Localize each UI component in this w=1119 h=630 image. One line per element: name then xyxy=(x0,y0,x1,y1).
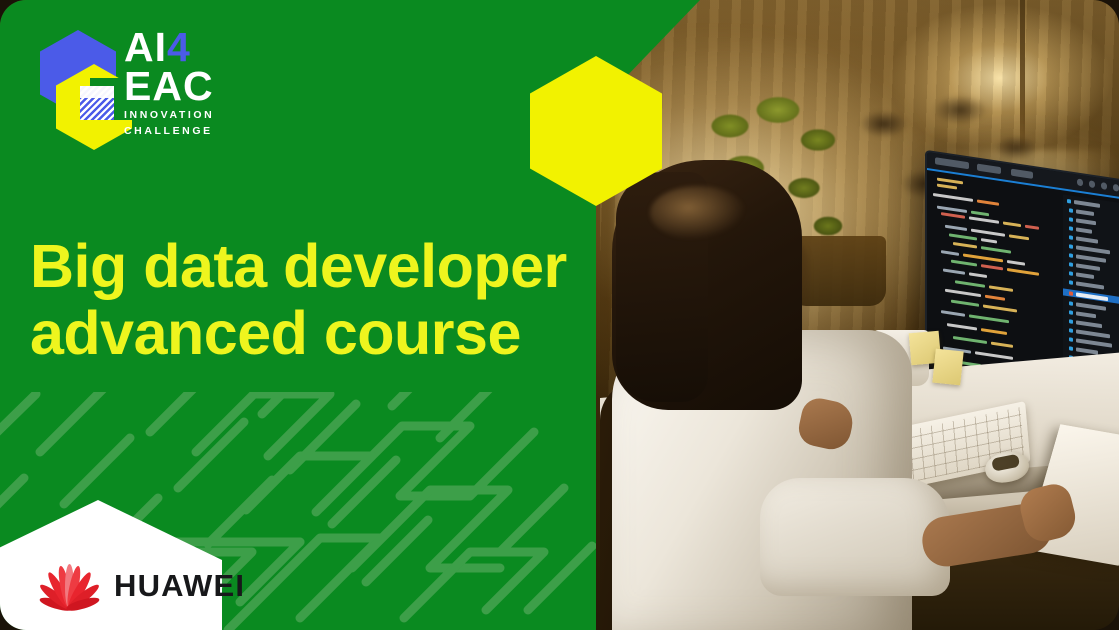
logo-line-eac: EAC xyxy=(124,66,214,106)
page-title-line-1: Big data developer xyxy=(30,233,575,300)
huawei-flower-icon xyxy=(34,562,100,610)
sticky-note xyxy=(932,349,963,386)
logo-text-block: AI4 EAC INNOVATION CHALLENGE xyxy=(124,28,214,138)
huawei-wordmark: HUAWEI xyxy=(114,568,245,604)
ai4eac-logo[interactable]: AI4 EAC INNOVATION CHALLENGE xyxy=(24,26,204,142)
course-banner: HUAWEI AI4 EAC INNOVATION CHALLENGE Big … xyxy=(0,0,1119,630)
hair-highlight xyxy=(650,186,746,240)
huawei-logo: HUAWEI xyxy=(34,562,245,610)
logo-tagline-challenge: CHALLENGE xyxy=(124,125,214,138)
page-title-line-2: advanced course xyxy=(30,300,575,367)
page-title: Big data developer advanced course xyxy=(30,233,575,367)
logo-chip-top xyxy=(80,86,114,98)
logo-line-ai4: AI4 xyxy=(124,28,214,66)
logo-tagline-innovation: INNOVATION xyxy=(124,109,214,122)
